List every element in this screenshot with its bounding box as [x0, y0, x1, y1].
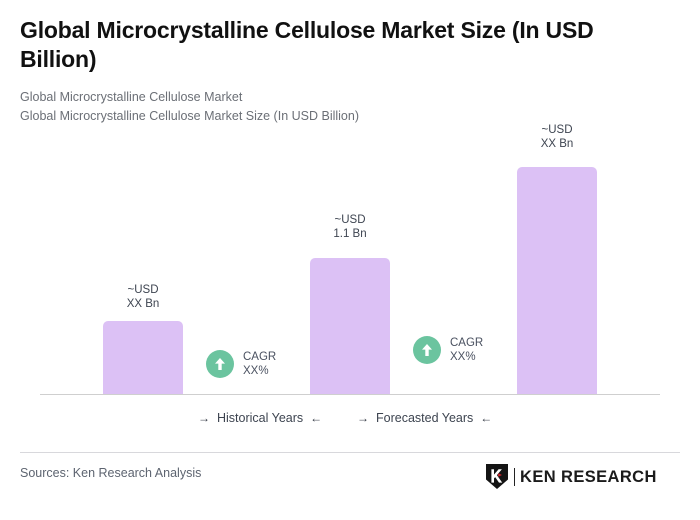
axis-label-forecasted-text: Forecasted Years — [376, 410, 473, 426]
bar-value-label-2: ~USD 1.1 Bn — [310, 213, 390, 241]
ken-research-logo: KEN RESEARCH — [484, 463, 657, 490]
cagr-annotation-1[interactable]: CAGR XX% — [206, 350, 276, 378]
subtitle-group: Global Microcrystalline Cellulose Market… — [20, 88, 660, 126]
logo-wordmark: KEN RESEARCH — [520, 468, 657, 486]
chart-page: Global Microcrystalline Cellulose Market… — [0, 0, 700, 520]
axis-label-forecasted: → Forecasted Years ← — [357, 410, 492, 426]
bar-value-currency-2: ~USD — [310, 213, 390, 227]
subtitle-market-size: Global Microcrystalline Cellulose Market… — [20, 107, 660, 126]
footer-divider — [20, 452, 680, 453]
bar-current-2[interactable] — [310, 258, 390, 394]
arrow-left-icon: ← — [310, 410, 322, 426]
shield-k-icon — [484, 463, 510, 490]
arrow-up-icon — [413, 336, 441, 364]
cagr-value-1: XX% — [243, 364, 276, 378]
chart-header: Global Microcrystalline Cellulose Market… — [20, 16, 660, 126]
bar-value-label-3: ~USD XX Bn — [517, 123, 597, 151]
bar-forecast-3[interactable] — [517, 167, 597, 394]
sources-text: Sources: Ken Research Analysis — [20, 465, 201, 482]
cagr-title-1: CAGR — [243, 350, 276, 364]
cagr-title-2: CAGR — [450, 336, 483, 350]
subtitle-market-name: Global Microcrystalline Cellulose Market — [20, 88, 660, 107]
cagr-annotation-2[interactable]: CAGR XX% — [413, 336, 483, 364]
arrow-right-icon: → — [357, 410, 369, 426]
arrow-right-icon: → — [198, 410, 210, 426]
cagr-text-2: CAGR XX% — [450, 336, 483, 364]
bar-value-amount-3: XX Bn — [517, 137, 597, 151]
axis-label-historical: → Historical Years ← — [198, 410, 322, 426]
bar-value-amount-2: 1.1 Bn — [310, 227, 390, 241]
cagr-value-2: XX% — [450, 350, 483, 364]
x-axis-line — [40, 394, 660, 395]
axis-label-historical-text: Historical Years — [217, 410, 303, 426]
logo-divider — [514, 468, 515, 486]
arrow-up-icon — [206, 350, 234, 378]
bar-value-amount-1: XX Bn — [103, 297, 183, 311]
bar-value-currency-1: ~USD — [103, 283, 183, 297]
bar-historical-1[interactable] — [103, 321, 183, 394]
cagr-text-1: CAGR XX% — [243, 350, 276, 378]
page-title: Global Microcrystalline Cellulose Market… — [20, 16, 630, 74]
bar-value-label-1: ~USD XX Bn — [103, 283, 183, 311]
arrow-left-icon: ← — [480, 410, 492, 426]
